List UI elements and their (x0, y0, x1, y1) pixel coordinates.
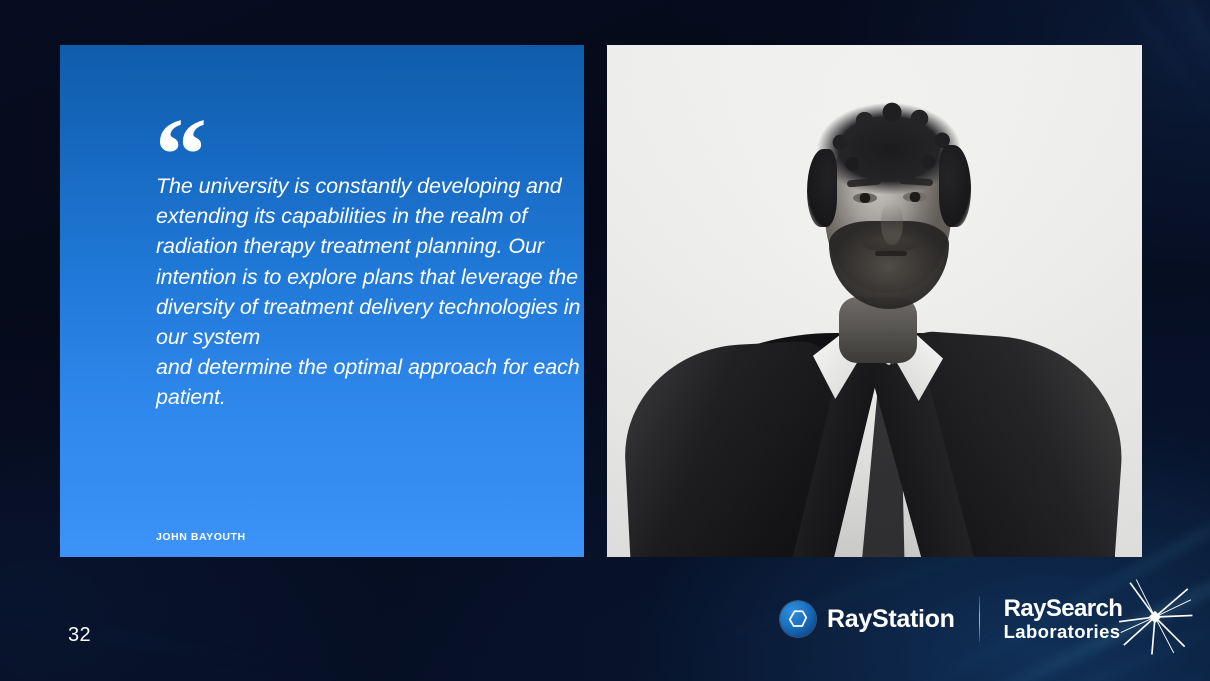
portrait-tone-overlay (607, 45, 1142, 557)
raysearch-wordmark: RaySearch Laboratories (1004, 597, 1123, 642)
portrait-photo (607, 45, 1142, 557)
logo-divider (979, 596, 980, 642)
quote-card: “ The university is constantly developin… (60, 45, 584, 557)
raysearch-line1: RaySearch (1004, 597, 1123, 621)
raysearch-logo: RaySearch Laboratories (1004, 578, 1195, 661)
raystation-logo: RayStation (780, 601, 955, 637)
light-streak (0, 600, 327, 676)
raystation-wordmark: RayStation (827, 607, 955, 632)
starburst-icon (1116, 578, 1194, 661)
page-number: 32 (68, 624, 91, 647)
raysearch-line2: Laboratories (1004, 623, 1123, 642)
footer-logos: RayStation RaySearch Laboratories (780, 592, 1194, 646)
portrait-frame (607, 45, 1142, 557)
attribution: JOHN BAYOUTH CHIEF OF RADIATION ONCOLOGY… (156, 530, 556, 557)
quote-text: The university is constantly developing … (156, 171, 584, 413)
attribution-role: CHIEF OF RADIATION ONCOLOGY PHYSICS, UNI… (156, 554, 536, 557)
attribution-name: JOHN BAYOUTH (156, 530, 556, 545)
hexagon-icon (780, 601, 816, 637)
